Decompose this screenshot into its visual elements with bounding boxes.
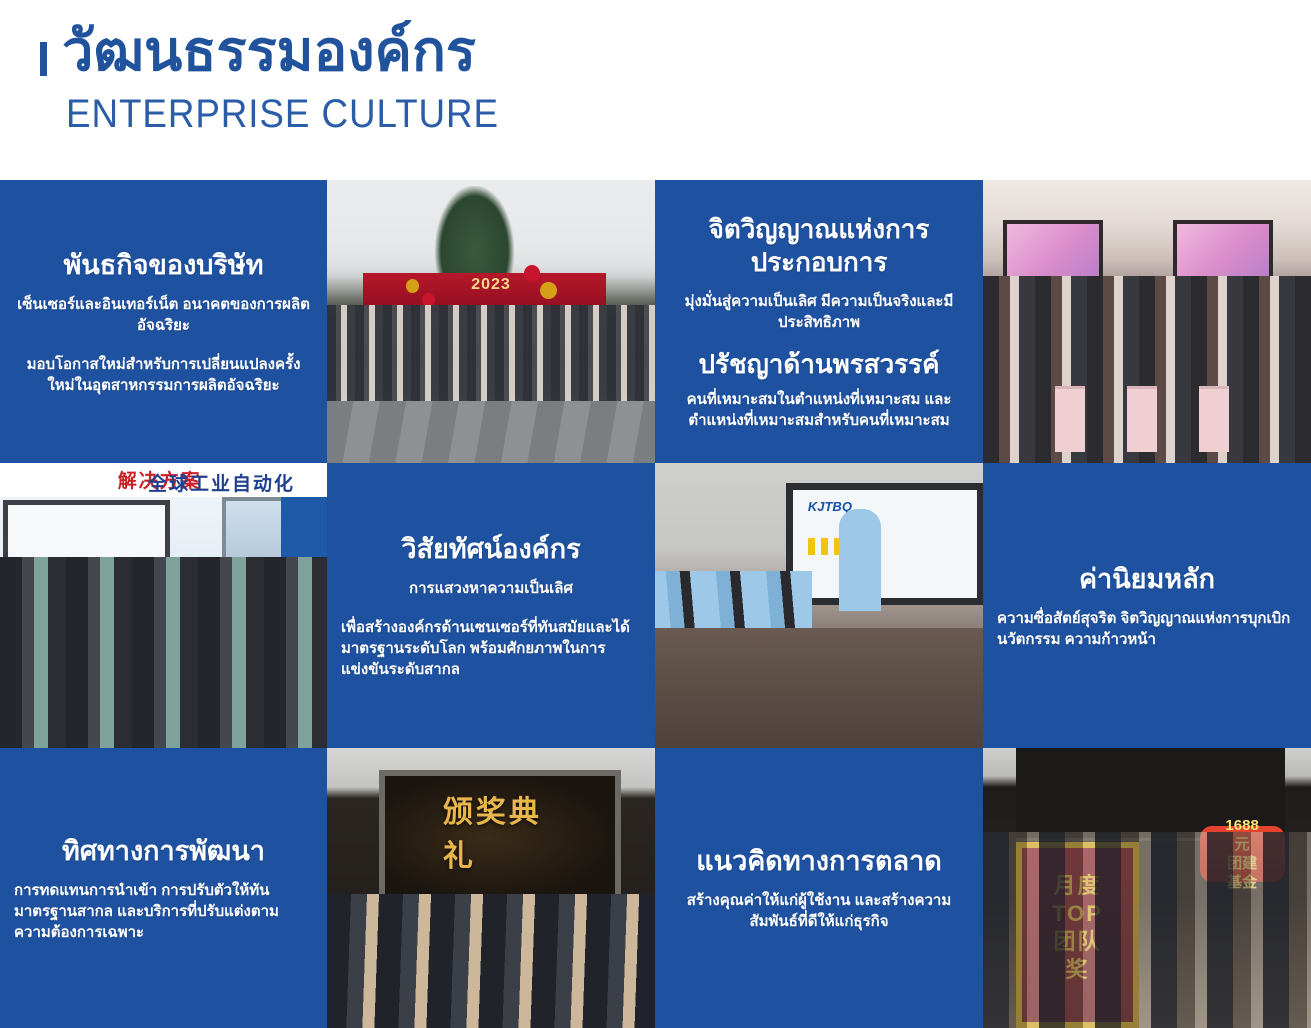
- womens-day-scene: [983, 180, 1311, 463]
- photo-birthday-celebration: 全球工业自动化解决方案: [0, 463, 327, 748]
- panel-spirit-subtitle: ปรัชญาด้านพรสวรรค์: [698, 347, 939, 381]
- panel-entrepreneurial-spirit: จิตวิญญาณแห่งการประกอบการ มุ่งมั่นสู่ควา…: [655, 180, 983, 463]
- panel-marketing-title: แนวคิดทางการตลาด: [696, 844, 942, 878]
- panel-spirit-body-1: มุ่งมั่นสู่ความเป็นเลิศ มีความเป็นจริงแล…: [669, 291, 969, 333]
- panel-vision: วิสัยทัศน์องค์กร การแสวงหาความเป็นเลิศ เ…: [327, 463, 655, 748]
- panel-core-values: ค่านิยมหลัก ความซื่อสัตย์สุจริต จิตวิญญา…: [983, 463, 1311, 748]
- photo-training-meeting: KJTBQ: [655, 463, 983, 748]
- panel-core-values-body: ความซื่อสัตย์สุจริต จิตวิญญาณแห่งการบุกเ…: [997, 608, 1297, 650]
- title-accent-bar: [40, 42, 47, 76]
- culture-grid: พันธกิจของบริษัท เซ็นเซอร์และอินเทอร์เน็…: [0, 180, 1311, 1028]
- panel-mission-title: พันธกิจของบริษัท: [64, 248, 264, 282]
- balloon-gold: [540, 282, 556, 299]
- crowd-shape: [327, 305, 655, 401]
- page-title-english: ENTERPRISE CULTURE: [66, 90, 499, 138]
- photo-company-group-2023: 2023: [327, 180, 655, 463]
- panel-mission-body-1: เซ็นเซอร์และอินเทอร์เน็ต อนาคตของการผลิต…: [14, 294, 313, 336]
- balloon-red: [524, 265, 540, 282]
- panel-spirit-body-2: คนที่เหมาะสมในตำแหน่งที่เหมาะสม และตำแหน…: [669, 389, 969, 431]
- panel-marketing-body: สร้างคุณค่าให้แก่ผู้ใช้งาน และสร้างความส…: [669, 890, 969, 932]
- birthday-scene: 全球工业自动化解决方案: [0, 463, 327, 748]
- panel-marketing-concept: แนวคิดทางการตลาด สร้างคุณค่าให้แก่ผู้ใช้…: [655, 748, 983, 1028]
- panel-mission: พันธกิจของบริษัท เซ็นเซอร์และอินเทอร์เน็…: [0, 180, 327, 463]
- wall-banner-text: 全球工业自动化解决方案: [118, 466, 202, 493]
- panel-spirit-title: จิตวิญญาณแห่งการประกอบการ: [669, 213, 969, 279]
- ceremony-screen-text: 颁奖典礼: [443, 787, 558, 875]
- training-scene: KJTBQ: [655, 463, 983, 748]
- panel-vision-title: วิสัยทัศน์องค์กร: [401, 532, 580, 566]
- award-ceremony-scene: 颁奖典礼: [327, 748, 655, 1028]
- gift-bag-2: [1127, 386, 1157, 451]
- panel-mission-body-2: มอบโอกาสใหม่สำหรับการเปลี่ยนแปลงครั้งใหม…: [14, 354, 313, 396]
- people-shape: [983, 832, 1311, 1028]
- enterprise-culture-page: วัฒนธรรมองค์กร ENTERPRISE CULTURE พันธกิ…: [0, 0, 1311, 1028]
- photo-womens-day: [983, 180, 1311, 463]
- photo-award-ceremony: 颁奖典礼: [327, 748, 655, 1028]
- photo-top-team-award: 月度 TOP 团队奖 1688元 团建基金: [983, 748, 1311, 1028]
- conference-table-shape: [655, 628, 983, 748]
- people-shape: [327, 894, 655, 1028]
- balloon-gold-2: [406, 279, 419, 293]
- panel-vision-body-2: เพื่อสร้างองค์กรด้านเซนเซอร์ที่ทันสมัยแล…: [341, 617, 641, 680]
- gift-bag-1: [1055, 386, 1085, 451]
- gift-bag-3: [1199, 386, 1229, 451]
- ceremony-screen: 颁奖典礼: [379, 770, 621, 905]
- people-shape: [0, 557, 327, 748]
- panel-development-title: ทิศทางการพัฒนา: [62, 834, 265, 868]
- panel-vision-body-1: การแสวงหาความเป็นเลิศ: [409, 578, 573, 599]
- page-header: วัฒนธรรมองค์กร ENTERPRISE CULTURE: [0, 0, 1311, 180]
- top-team-scene: 月度 TOP 团队奖 1688元 团建基金: [983, 748, 1311, 1028]
- presenter-shape: [839, 509, 882, 612]
- panel-core-values-title: ค่านิยมหลัก: [1079, 562, 1215, 596]
- screen-logo: KJTBQ: [808, 499, 852, 514]
- banner-year-text: 2023: [471, 276, 511, 294]
- group-photo-scene: 2023: [327, 180, 655, 463]
- panel-development-body: การทดแทนการนำเข้า การปรับตัวให้ทันมาตรฐา…: [14, 880, 313, 943]
- page-title-thai: วัฒนธรรมองค์กร: [62, 14, 476, 88]
- presentation-screen: KJTBQ: [786, 483, 983, 605]
- wall-banner: 全球工业自动化解决方案: [0, 463, 327, 497]
- panel-development-direction: ทิศทางการพัฒนา การทดแทนการนำเข้า การปรับ…: [0, 748, 327, 1028]
- pavement-shape: [327, 401, 655, 463]
